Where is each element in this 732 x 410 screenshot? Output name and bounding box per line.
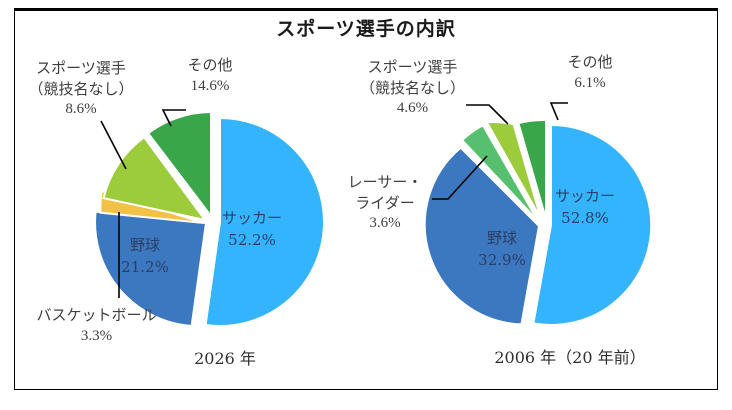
slice-label-soccer-2006-pct: 52.8% [530, 208, 640, 230]
slice-label-baseball-2006-name: 野球 [487, 229, 517, 247]
callout-basketball-2026-pct: 3.3% [14, 326, 179, 347]
chart-page: スポーツ選手の内訳 [0, 0, 732, 410]
slice-label-soccer-2026-name: サッカー [222, 209, 282, 227]
callout-basketball-2026-line1: バスケットボール [36, 306, 156, 324]
slice-label-soccer-2026: サッカー 52.2% [197, 208, 307, 252]
slice-label-baseball-2006-pct: 32.9% [462, 250, 542, 272]
slice-label-baseball-2026-name: 野球 [130, 236, 160, 254]
callout-unnamed-2026-line2: （競技名なし） [28, 80, 133, 98]
callout-racer-2006-pct: 3.6% [330, 213, 440, 234]
slice-label-soccer-2006: サッカー 52.8% [530, 186, 640, 230]
callout-racer-2006-line2: ライダー [355, 194, 414, 212]
slice-label-soccer-2026-pct: 52.2% [197, 230, 307, 252]
caption-2026: 2026 年 [150, 345, 300, 369]
callout-racer-2006-line1: レーサー・ [348, 173, 423, 191]
slice-label-soccer-2006-name: サッカー [555, 187, 615, 205]
slice-label-baseball-2026-pct: 21.2% [105, 257, 185, 279]
callout-other-2026-pct: 14.6% [155, 76, 265, 97]
callout-unnamed-2006: スポーツ選手 （競技名なし） 4.6% [345, 57, 480, 119]
leader-line-unnamed-2026 [101, 121, 126, 169]
caption-2006: 2006 年（20 年前） [455, 344, 685, 368]
callout-unnamed-2006-pct: 4.6% [345, 98, 480, 119]
callout-other-2006-pct: 6.1% [535, 73, 645, 94]
callout-racer-2006: レーサー・ ライダー 3.6% [330, 172, 440, 234]
callout-other-2006: その他 6.1% [535, 52, 645, 93]
leader-line-other-2006 [551, 103, 568, 120]
callout-unnamed-2026-pct: 8.6% [16, 99, 146, 120]
callout-unnamed-2006-line2: （競技名なし） [360, 79, 465, 97]
callout-basketball-2026: バスケットボール 3.3% [14, 305, 179, 346]
callout-unnamed-2006-line1: スポーツ選手 [368, 58, 458, 76]
callout-other-2006-line1: その他 [567, 53, 612, 71]
slice-label-baseball-2026: 野球 21.2% [105, 235, 185, 279]
callout-unnamed-2026-line1: スポーツ選手 [36, 59, 126, 77]
callout-other-2026-line1: その他 [187, 56, 232, 74]
callout-unnamed-2026: スポーツ選手 （競技名なし） 8.6% [16, 58, 146, 120]
callout-other-2026: その他 14.6% [155, 55, 265, 96]
slice-label-baseball-2006: 野球 32.9% [462, 228, 542, 272]
